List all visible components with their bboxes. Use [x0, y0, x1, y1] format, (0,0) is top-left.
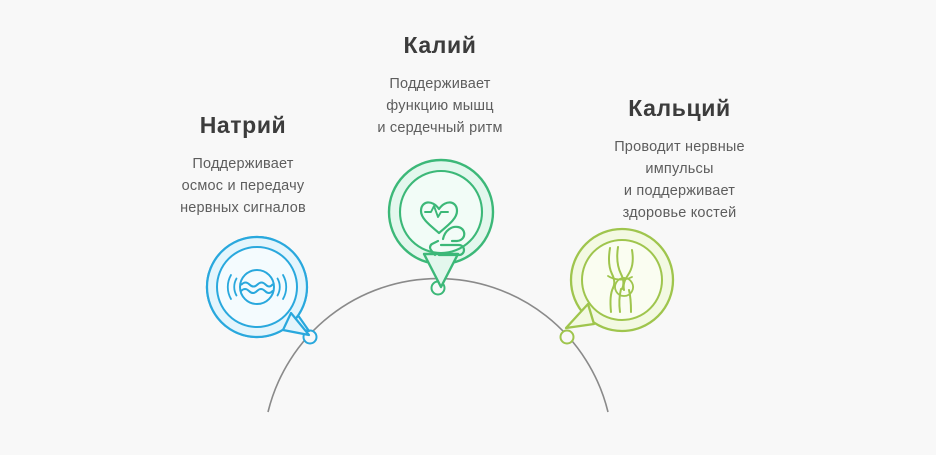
sodium-description: Поддерживает осмос и передачу нервных си… — [148, 153, 338, 219]
item-calcium-text: Кальций Проводит нервные импульсы и подд… — [572, 95, 787, 224]
item-potassium-text: Калий Поддерживает функцию мышц и сердеч… — [345, 32, 535, 139]
potassium-bubble[interactable] — [386, 157, 496, 297]
sodium-title: Натрий — [148, 112, 338, 139]
potassium-title: Калий — [345, 32, 535, 59]
calcium-bubble[interactable] — [558, 226, 678, 344]
infographic-canvas: Натрий Поддерживает осмос и передачу нер… — [0, 0, 936, 455]
potassium-bubble-tail — [424, 254, 458, 287]
item-sodium-text: Натрий Поддерживает осмос и передачу нер… — [148, 112, 338, 219]
calcium-description: Проводит нервные импульсы и поддерживает… — [572, 136, 787, 224]
potassium-description: Поддерживает функцию мышц и сердечный ри… — [345, 73, 535, 139]
sodium-bubble[interactable] — [203, 233, 323, 351]
calcium-title: Кальций — [572, 95, 787, 122]
